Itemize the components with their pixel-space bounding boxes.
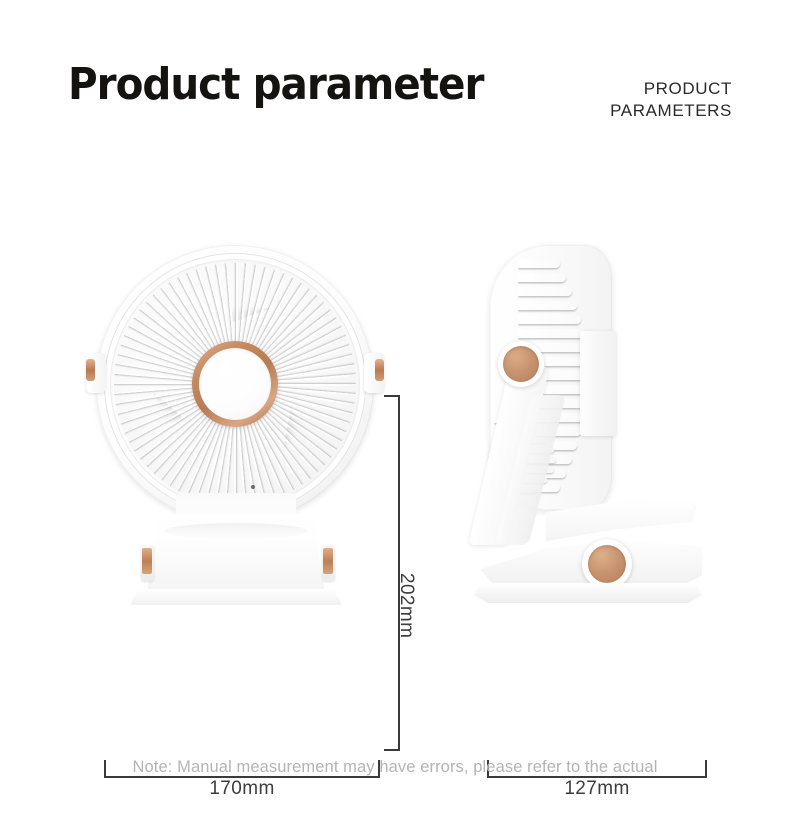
product-images-stage: 202mm 170mm 127mm [0, 150, 790, 680]
fan-head-front [96, 245, 374, 523]
product-parameter-page: Product parameter PRODUCT PARAMETERS [0, 0, 790, 813]
clip-accent-right [322, 545, 335, 581]
product-front-view [88, 245, 388, 620]
page-header: Product parameter PRODUCT PARAMETERS [0, 0, 790, 150]
page-subtitle: PRODUCT PARAMETERS [532, 78, 732, 123]
measurement-note: Note: Manual measurement may have errors… [0, 758, 790, 777]
subtitle-line-1: PRODUCT [532, 78, 732, 100]
grille-fin [518, 287, 572, 296]
fan-base-body-front [147, 515, 325, 593]
product-side-view [472, 245, 712, 620]
grille-fin [518, 259, 560, 268]
clamp-pivot-knob [582, 539, 632, 589]
grille-fin [518, 329, 585, 338]
clip-accent-left [141, 545, 154, 581]
fan-foot-front [130, 589, 342, 605]
clamp-foot-base [474, 583, 702, 603]
grille-fin [518, 301, 577, 310]
clip-gold-accent [323, 548, 333, 574]
grille-fin [518, 273, 566, 282]
clip-gold-accent [142, 548, 152, 574]
indicator-mark [251, 485, 255, 489]
subtitle-line-2: PARAMETERS [532, 100, 732, 122]
dimension-label-width-side: 127mm [487, 778, 707, 800]
dimension-height-202mm: 202mm [384, 395, 414, 751]
pivot-gold-accent [86, 359, 95, 381]
grille-fin [518, 315, 581, 324]
pivot-gold-accent [375, 359, 384, 381]
dimension-tick-bottom [384, 749, 400, 751]
fan-center-hub [192, 341, 278, 427]
dimension-label-height: 202mm [395, 573, 417, 638]
fan-motor-housing [580, 331, 616, 436]
pivot-knob-left [86, 353, 106, 393]
pivot-knob-right [364, 353, 384, 393]
page-title: Product parameter [68, 63, 483, 107]
dimension-label-width-front: 170mm [104, 778, 380, 800]
tilt-pivot-knob-side [498, 341, 544, 387]
